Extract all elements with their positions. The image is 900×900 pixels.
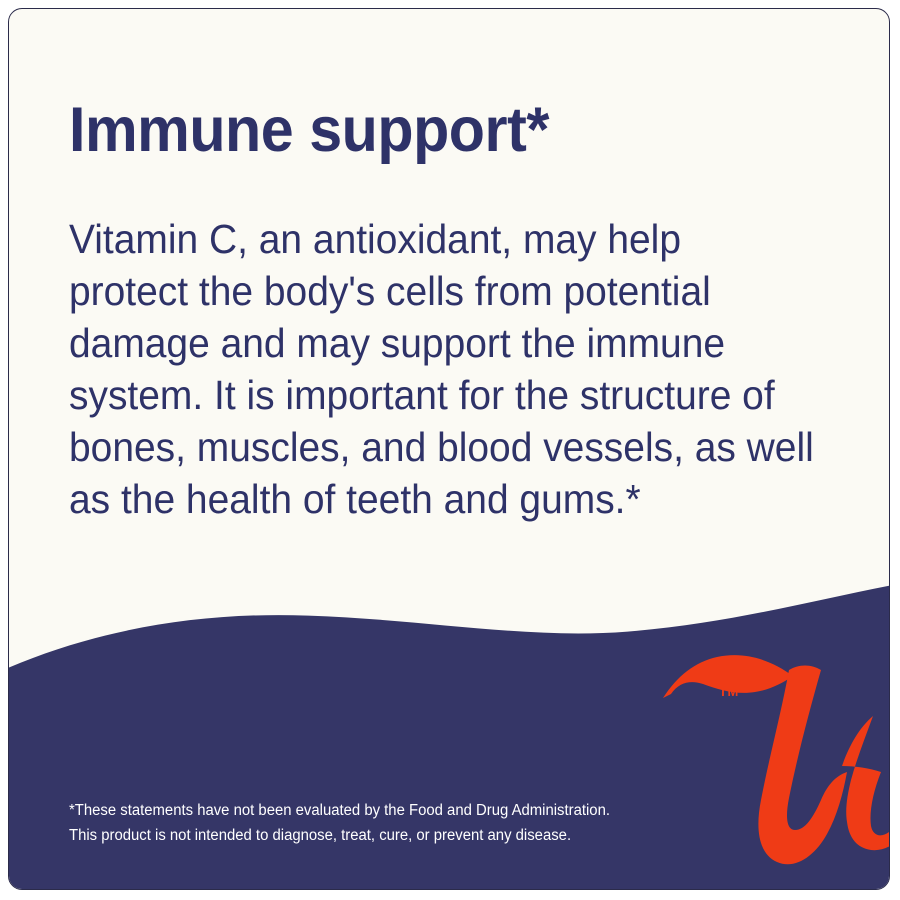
body-line: damage and may support the immune — [69, 317, 829, 369]
body-line: Vitamin C, an antioxidant, may help — [69, 213, 829, 265]
walgreens-script-w-logo — [659, 654, 889, 889]
fda-disclaimer: *These statements have not been evaluate… — [69, 798, 610, 848]
page-title: Immune support* — [69, 97, 549, 164]
disclaimer-line: *These statements have not been evaluate… — [69, 798, 610, 823]
body-line: protect the body's cells from potential — [69, 265, 829, 317]
body-line: bones, muscles, and blood vessels, as we… — [69, 421, 829, 473]
disclaimer-line: This product is not intended to diagnose… — [69, 823, 610, 848]
body-line: as the health of teeth and gums.* — [69, 473, 829, 525]
body-line: system. It is important for the structur… — [69, 369, 829, 421]
body-copy: Vitamin C, an antioxidant, may help prot… — [69, 213, 829, 525]
product-info-card: Immune support* Vitamin C, an antioxidan… — [8, 8, 890, 890]
trademark-icon: TM — [719, 685, 739, 698]
